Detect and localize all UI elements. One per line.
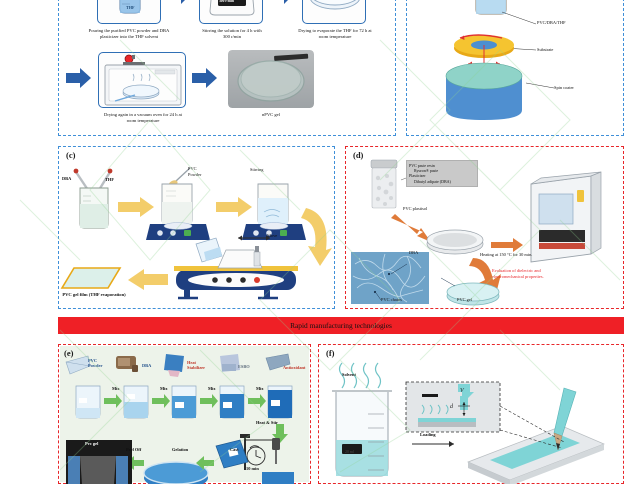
panel-a-caption-4: Drying again in a vacuum oven for 24 h a… xyxy=(100,112,186,124)
beaker-e-2 xyxy=(124,386,148,418)
panel-a-caption-3: Drying to evaporate the THF for 72 h at … xyxy=(296,28,374,40)
solvent-beaker-icon xyxy=(332,363,392,476)
beaker-e-1 xyxy=(76,386,100,418)
panel-e-label: (e) xyxy=(64,348,73,358)
panel-c-label-move: Move xyxy=(267,233,277,238)
petri-dish-icon xyxy=(310,0,360,9)
beaker-e-3 xyxy=(172,386,196,418)
pvc-powder-icon xyxy=(66,356,90,374)
panel-d-label-plastisol: PVC plastisol xyxy=(403,206,427,211)
panel-e-label-pvc-powder: PVC Powder xyxy=(88,358,110,369)
beaker-3-icon xyxy=(258,184,288,224)
npvc-gel-photo xyxy=(228,50,314,108)
panel-c-label-dba: DBA xyxy=(62,176,71,181)
callout-line-4: Dibutyl adipate (DBA) xyxy=(409,179,475,184)
figure-root: THF 300 r/min Solution Pouring t xyxy=(0,0,630,472)
panel-f-solvent-label: Solvent xyxy=(342,372,356,377)
panel-f-label: (f) xyxy=(326,348,335,358)
pvc-gel-film-icon xyxy=(62,268,120,288)
casting-machine-icon xyxy=(174,236,298,299)
panel-c-label-thf: THF xyxy=(105,177,114,182)
panel-e-label-heat-stabilizer: Heat Stabilizer xyxy=(187,360,211,371)
panel-a-caption-1: Pouring the purified PVC powder and DBA … xyxy=(81,28,177,40)
beaker-2-icon xyxy=(162,184,192,224)
panel-c-label: (c) xyxy=(66,150,75,160)
panel-a-step2-box xyxy=(199,0,263,24)
panel-f-graphics: d V xyxy=(318,344,624,484)
beaker-icon xyxy=(473,0,509,14)
panel-a-caption-2: Stirring the solution for 4 h with 300 r… xyxy=(199,28,265,40)
pipette-dba-icon xyxy=(74,169,88,190)
arrow-right-2 xyxy=(271,0,295,4)
dba-bottle-icon xyxy=(116,356,138,372)
plastisol-dish-icon xyxy=(427,230,483,254)
panel-c-label-pvc-powder: PVC Powder xyxy=(188,166,210,177)
panel-e-heat-stir: Heat & Stir xyxy=(256,420,278,425)
esbo-icon xyxy=(220,354,240,372)
panel-d-label-pvc-chains: PVC chains xyxy=(381,297,402,302)
panel-e-mix-2: Mix xyxy=(160,386,168,391)
cast-beaker-icon xyxy=(216,440,248,468)
heat-stabilizer-icon xyxy=(164,354,184,377)
arrow-right-1 xyxy=(168,0,192,4)
panel-d-graphics xyxy=(345,146,624,309)
panel-e-cast: Cast xyxy=(230,447,239,452)
panel-e-label-dba: DBA xyxy=(142,363,151,368)
banner-text: Rapid manufacturing technologies xyxy=(290,321,392,330)
beaker-e-5 xyxy=(268,386,292,418)
panel-d-heating-label: Heating at 150 °C for 30 min. xyxy=(480,252,532,257)
spin-coater-icon xyxy=(446,63,522,120)
panel-b-label-substrate: Substrate xyxy=(537,47,553,52)
stir-apparatus-icon xyxy=(240,434,294,484)
panel-d-callout: PVC paste resin Ryuron® paste Plasticize… xyxy=(406,160,478,187)
panel-d-label-pvc-gel: PVC gel xyxy=(457,297,472,302)
beaker-1-icon xyxy=(80,188,108,228)
arrow-right-4 xyxy=(192,68,218,88)
panel-e-mix-3: Mix xyxy=(208,386,216,391)
rapid-manufacturing-banner: Rapid manufacturing technologies xyxy=(58,317,624,334)
panel-d-evaluation-label: Evaluation of dielectric and electromech… xyxy=(492,268,550,279)
panel-e-mix-4: Mix xyxy=(256,386,264,391)
panel-a-step1-box xyxy=(97,0,161,24)
panel-f-loading-label: Loading xyxy=(420,432,436,437)
panel-e-peel-off: Peel Off xyxy=(126,447,141,452)
panel-c-label-stirring: Stirring xyxy=(250,167,263,172)
panel-a-step4-box xyxy=(98,52,186,108)
pvc-gel-dish-icon xyxy=(447,283,499,305)
thf-beaker-label: THF xyxy=(126,5,135,10)
panel-c-output-label: PVC gel film (THF evaporation) xyxy=(62,292,126,298)
panel-e-10min: 10 min xyxy=(246,466,259,471)
hotplate-1-icon xyxy=(146,223,210,240)
panel-b-label-pvc-dba-thf: PVC/DBA/THF xyxy=(537,20,566,25)
panel-e-label-antioxidant: Antioxidant xyxy=(283,365,305,370)
pvc-gel-photo-e xyxy=(66,440,132,484)
panel-e-mix-1: Mix xyxy=(112,386,120,391)
panel-f-volume-label: 20 ml xyxy=(345,450,354,454)
panel-e-gelation: Gelation xyxy=(172,447,188,452)
npvc-gel-label: nPVC gel xyxy=(245,112,297,118)
beaker-e-4 xyxy=(220,386,244,418)
panel-e-product-label: Pvc gel xyxy=(85,441,98,446)
stirrer-display: 300 r/min xyxy=(219,0,234,3)
panel-b-label-spin-coater: Spin coater xyxy=(554,85,574,90)
panel-b-graphics xyxy=(406,0,624,136)
gelation-dish-icon xyxy=(144,462,208,484)
panel-e-label-esbo: ESBO xyxy=(238,364,250,369)
arrow-right-3 xyxy=(66,68,92,88)
plastisol-jar-icon xyxy=(371,160,397,208)
panel-d-label: (d) xyxy=(353,150,363,160)
panel-d-label-dba: DBA xyxy=(409,250,418,255)
substrate-plate-icon xyxy=(468,426,604,484)
oven-icon xyxy=(531,172,601,262)
vacuum-oven-icon xyxy=(105,55,181,105)
panel-a-step3-box xyxy=(302,0,366,24)
